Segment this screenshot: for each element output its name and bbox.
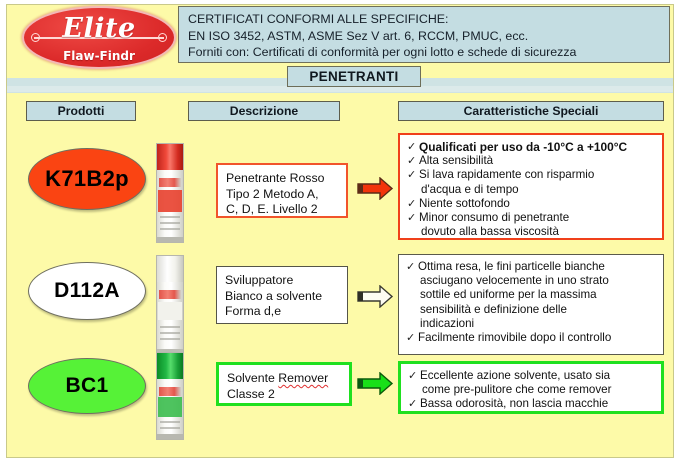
product-badge-bc1: BC1 bbox=[28, 358, 146, 414]
check-icon: ✓ bbox=[408, 397, 417, 411]
feature-item: ✓Bassa odorosità, non lascia macchie bbox=[408, 397, 656, 411]
feature-list: ✓Qualificati per uso da -10°C a +100°C ✓… bbox=[407, 140, 657, 239]
spray-can-image-bc1 bbox=[156, 352, 184, 440]
features-box-bc1: ✓Eccellente azione solvente, usato sia c… bbox=[398, 361, 664, 414]
check-icon: ✓ bbox=[408, 369, 417, 383]
column-header-prodotti: Prodotti bbox=[26, 101, 136, 121]
description-line: C, D, E. Livello 2 bbox=[226, 202, 340, 218]
product-badge-d112a: D112A bbox=[28, 262, 146, 320]
can-logo-strip bbox=[159, 387, 181, 396]
description-box-d112a: Sviluppatore Bianco a solvente Forma d,e bbox=[216, 266, 348, 324]
feature-text: asciugano velocemente in uno strato bbox=[420, 274, 609, 287]
feature-item-continuation: come pre-pulitore che come remover bbox=[408, 383, 656, 397]
description-line: Sviluppatore bbox=[225, 273, 341, 289]
can-label-band bbox=[158, 190, 182, 212]
feature-text: Facilmente rimovibile dopo il controllo bbox=[418, 331, 611, 344]
certificate-line-3: Forniti con: Certificati di conformità p… bbox=[188, 44, 662, 61]
description-text-misspelled: Remover bbox=[278, 371, 328, 385]
can-text-line bbox=[160, 427, 180, 429]
can-text-line bbox=[160, 421, 180, 423]
feature-item-continuation: d'acqua e di tempo bbox=[407, 183, 657, 197]
feature-item: ✓Niente sottofondo bbox=[407, 197, 657, 211]
arrow-right-icon-row3 bbox=[356, 372, 394, 395]
description-line: Classe 2 bbox=[227, 387, 343, 403]
description-line: Bianco a solvente bbox=[225, 289, 341, 305]
product-code-label: D112A bbox=[54, 279, 120, 303]
description-line: Tipo 2 Metodo A, bbox=[226, 187, 340, 203]
feature-item: ✓Si lava rapidamente con risparmio bbox=[407, 168, 657, 182]
feature-text: Niente sottofondo bbox=[419, 197, 510, 210]
feature-item: ✓Ottima resa, le fini particelle bianche bbox=[406, 260, 658, 274]
features-box-k71b2p: ✓Qualificati per uso da -10°C a +100°C ✓… bbox=[398, 133, 664, 240]
feature-text: come pre-pulitore che come remover bbox=[422, 383, 611, 396]
feature-text: Si lava rapidamente con risparmio bbox=[419, 168, 594, 181]
feature-text: sensibilità e definizione delle bbox=[420, 303, 567, 316]
feature-text: Eccellente azione solvente, usato sia bbox=[420, 369, 610, 382]
feature-text: sottile ed uniforme per la massima bbox=[420, 288, 597, 301]
slide-root: Elite Flaw-Findr CERTIFICATI CONFORMI AL… bbox=[0, 0, 680, 469]
can-text-line bbox=[160, 222, 180, 224]
description-box-k71b2p: Penetrante Rosso Tipo 2 Metodo A, C, D, … bbox=[216, 163, 348, 218]
can-bottom bbox=[157, 237, 183, 242]
section-title-penetranti: PENETRANTI bbox=[287, 66, 421, 87]
feature-item-continuation: sottile ed uniforme per la massima bbox=[406, 288, 658, 302]
logo-brand-text: Elite bbox=[24, 13, 174, 44]
column-header-caratteristiche: Caratteristiche Speciali bbox=[398, 101, 664, 121]
features-box-d112a: ✓Ottima resa, le fini particelle bianche… bbox=[398, 254, 664, 355]
feature-item: ✓Qualificati per uso da -10°C a +100°C bbox=[407, 140, 657, 154]
check-icon: ✓ bbox=[407, 197, 416, 211]
feature-item: ✓Alta sensibilità bbox=[407, 154, 657, 168]
feature-text: Ottima resa, le fini particelle bianche bbox=[418, 260, 605, 273]
arrow-right-icon-row2 bbox=[356, 285, 394, 308]
feature-item: ✓Eccellente azione solvente, usato sia bbox=[408, 369, 656, 383]
arrow-right-icon-row1 bbox=[356, 177, 394, 200]
certificate-box: CERTIFICATI CONFORMI ALLE SPECIFICHE: EN… bbox=[178, 6, 670, 63]
description-line: Penetrante Rosso bbox=[226, 171, 340, 187]
description-text-plain: Solvente bbox=[227, 371, 278, 385]
elite-logo: Elite Flaw-Findr bbox=[24, 8, 174, 67]
feature-text: Alta sensibilità bbox=[419, 154, 493, 167]
can-text-line bbox=[160, 338, 180, 340]
feature-list: ✓Ottima resa, le fini particelle bianche… bbox=[406, 260, 658, 345]
feature-item-continuation: sensibilità e definizione delle bbox=[406, 303, 658, 317]
description-line: Forma d,e bbox=[225, 304, 341, 320]
can-text-line bbox=[160, 326, 180, 328]
can-label-band bbox=[158, 397, 182, 417]
logo-tagline-text: Flaw-Findr bbox=[24, 49, 174, 63]
feature-list: ✓Eccellente azione solvente, usato sia c… bbox=[408, 369, 656, 412]
column-header-descrizione: Descrizione bbox=[188, 101, 340, 121]
can-logo-strip bbox=[159, 178, 181, 187]
check-icon: ✓ bbox=[407, 140, 416, 154]
check-icon: ✓ bbox=[406, 260, 415, 274]
feature-item: ✓Minor consumo di penetrante bbox=[407, 211, 657, 225]
product-code-label: K71B2p bbox=[45, 166, 129, 192]
can-text-line bbox=[160, 332, 180, 334]
product-badge-k71b2p: K71B2p bbox=[28, 148, 146, 210]
check-icon: ✓ bbox=[406, 331, 415, 345]
feature-text: Bassa odorosità, non lascia macchie bbox=[420, 397, 608, 410]
check-icon: ✓ bbox=[407, 168, 416, 182]
description-line: Solvente Remover bbox=[227, 371, 343, 387]
can-cap bbox=[157, 144, 183, 170]
can-logo-strip bbox=[159, 290, 181, 299]
can-label-band bbox=[158, 302, 182, 320]
check-icon: ✓ bbox=[407, 211, 416, 225]
product-code-label: BC1 bbox=[66, 374, 109, 398]
certificate-line-1: CERTIFICATI CONFORMI ALLE SPECIFICHE: bbox=[188, 11, 662, 28]
feature-item-continuation: dovuto alla bassa viscosità bbox=[407, 225, 657, 239]
feature-text: Minor consumo di penetrante bbox=[419, 211, 569, 224]
feature-text: Qualificati per uso da -10°C a +100°C bbox=[419, 140, 627, 154]
feature-item: ✓Facilmente rimovibile dopo il controllo bbox=[406, 331, 658, 345]
feature-item-continuation: indicazioni bbox=[406, 317, 658, 331]
spray-can-image-d112a bbox=[156, 255, 184, 355]
spray-can-image-k71b2p bbox=[156, 143, 184, 243]
feature-text: d'acqua e di tempo bbox=[421, 183, 519, 196]
feature-text: dovuto alla bassa viscosità bbox=[421, 225, 559, 238]
can-text-line bbox=[160, 228, 180, 230]
feature-text: indicazioni bbox=[420, 317, 474, 330]
can-cap bbox=[157, 353, 183, 379]
check-icon: ✓ bbox=[407, 154, 416, 168]
can-text-line bbox=[160, 216, 180, 218]
feature-item-continuation: asciugano velocemente in uno strato bbox=[406, 274, 658, 288]
can-bottom bbox=[157, 434, 183, 439]
can-cap bbox=[157, 256, 183, 282]
description-box-bc1: Solvente Remover Classe 2 bbox=[216, 362, 352, 406]
certificate-line-2: EN ISO 3452, ASTM, ASME Sez V art. 6, RC… bbox=[188, 28, 662, 45]
